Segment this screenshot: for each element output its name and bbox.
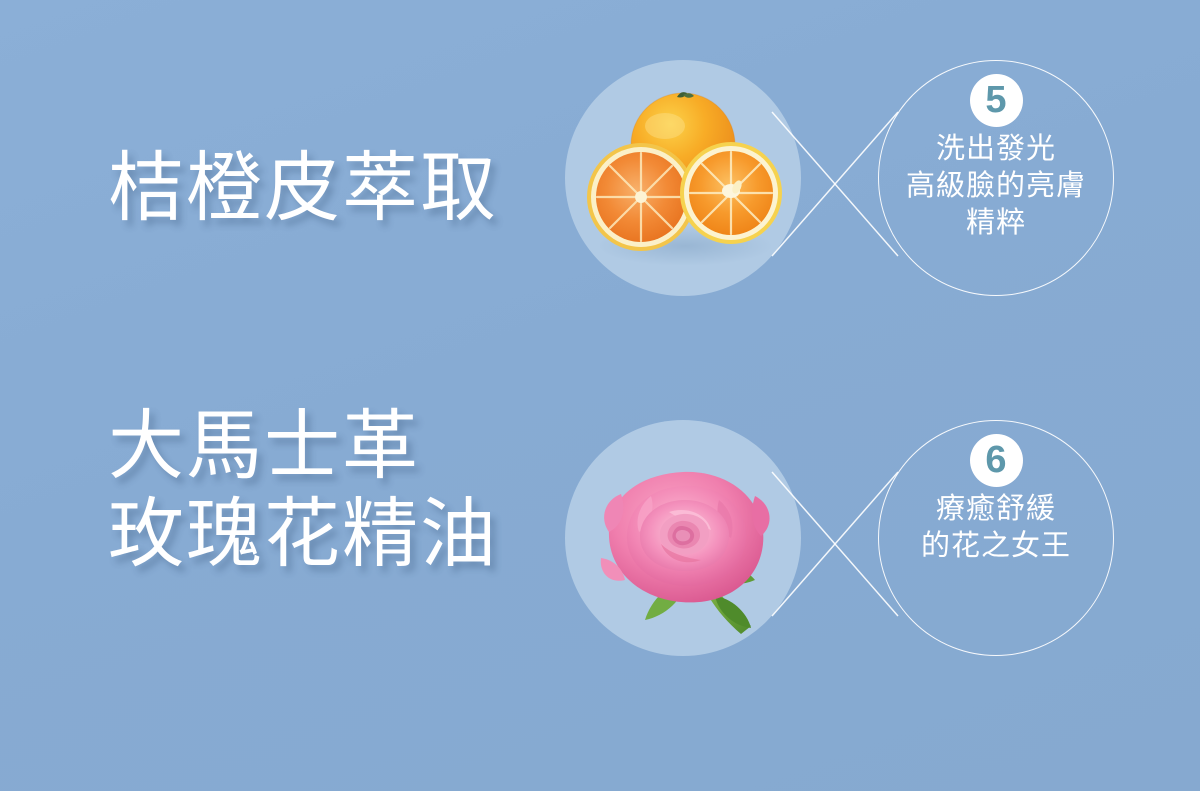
ingredient-heading-rose: 大馬士革 玫瑰花精油 (108, 403, 548, 579)
heading-line: 玫瑰花精油 (108, 491, 548, 579)
info-text-orange: 洗出發光 高級臉的亮膚 精粹 (906, 131, 1086, 242)
orange-fruit-photo (565, 60, 801, 296)
ingredient-section-rose: 大馬士革 玫瑰花精油 (0, 387, 1200, 687)
photo-circle-rose (565, 420, 801, 656)
info-line: 精粹 (906, 205, 1086, 242)
step-number-badge: 5 (970, 74, 1023, 127)
info-line: 高級臉的亮膚 (906, 168, 1086, 205)
heading-line: 桔橙皮萃取 (108, 145, 548, 233)
info-text-rose: 療癒舒緩 的花之女王 (921, 491, 1071, 565)
info-line: 洗出發光 (906, 131, 1086, 168)
pink-rose-photo (565, 420, 801, 656)
info-line: 的花之女王 (921, 528, 1071, 565)
step-number-badge: 6 (970, 434, 1023, 487)
ingredient-heading-orange: 桔橙皮萃取 (108, 145, 548, 233)
info-circle-orange: 5 洗出發光 高級臉的亮膚 精粹 (878, 60, 1114, 296)
ingredient-section-orange: 桔橙皮萃取 (0, 27, 1200, 327)
ingredient-infographic-poster: 桔橙皮萃取 (0, 0, 1200, 791)
photo-circle-orange (565, 60, 801, 296)
info-line: 療癒舒緩 (921, 491, 1071, 528)
info-circle-rose: 6 療癒舒緩 的花之女王 (878, 420, 1114, 656)
heading-line: 大馬士革 (108, 403, 548, 491)
